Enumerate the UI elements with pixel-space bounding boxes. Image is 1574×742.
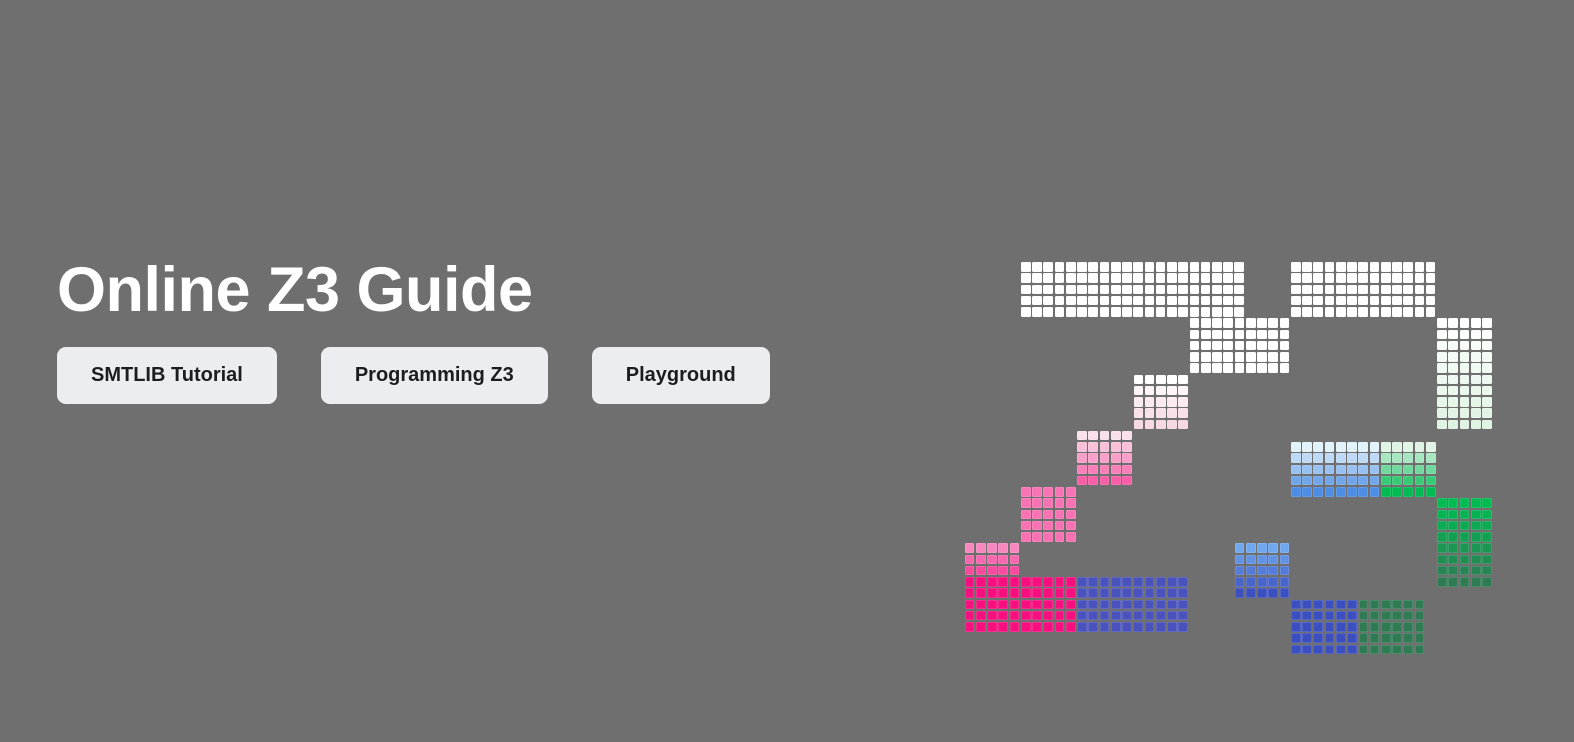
pixel-cell — [1032, 532, 1042, 542]
pixel-cell — [1190, 262, 1200, 272]
pixel-cell — [1145, 386, 1155, 396]
pixel-cell — [1235, 318, 1245, 328]
pixel-cell — [1370, 633, 1380, 643]
pixel-row — [1291, 622, 1358, 632]
pixel-row — [1437, 363, 1493, 373]
pixel-cell — [1471, 498, 1481, 508]
pixel-cell — [1134, 386, 1144, 396]
pixel-cell — [1133, 577, 1143, 587]
pixel-cell — [1347, 262, 1357, 272]
pixel-cell — [1122, 453, 1132, 463]
pixel-cell — [1032, 307, 1042, 317]
pixel-cell — [1111, 285, 1121, 295]
pixel-cell — [1471, 555, 1481, 565]
pixel-row — [1077, 611, 1189, 621]
pixel-cell — [1426, 465, 1436, 475]
pixel-cell — [1032, 498, 1042, 508]
pixel-cell — [1178, 307, 1188, 317]
pixel-cell — [1313, 273, 1323, 283]
pixel-cell — [1471, 577, 1481, 587]
pixel-cell — [1415, 645, 1425, 655]
pixel-cell — [1201, 341, 1211, 351]
pixel-cell — [1122, 588, 1132, 598]
pixel-cell — [1437, 555, 1447, 565]
pixel-row — [1134, 420, 1190, 430]
pixel-cell — [1415, 622, 1425, 632]
pixel-cell — [1145, 296, 1155, 306]
pixel-cell — [1246, 588, 1256, 598]
pixel-cell — [1043, 296, 1053, 306]
pixel-cell — [1055, 622, 1065, 632]
pixel-cell — [1437, 498, 1447, 508]
pixel-cell — [1370, 487, 1380, 497]
pixel-row — [1291, 645, 1358, 655]
pixel-cell — [1347, 465, 1357, 475]
pixel-cell — [1066, 622, 1076, 632]
pixel-cell — [1336, 633, 1346, 643]
pixel-cell — [1392, 487, 1402, 497]
pixel-cell — [1212, 296, 1222, 306]
pixel-cell — [1460, 510, 1470, 520]
programming-z3-button[interactable]: Programming Z3 — [321, 347, 548, 404]
pixel-cell — [1325, 296, 1335, 306]
pixel-cell — [1403, 611, 1413, 621]
pixel-cell — [1100, 622, 1110, 632]
pixel-cell — [1111, 622, 1121, 632]
pixel-row — [1291, 633, 1358, 643]
pixel-cell — [1178, 600, 1188, 610]
pixel-cell — [976, 577, 986, 587]
pixel-cell — [1088, 600, 1098, 610]
pixel-row — [1291, 611, 1358, 621]
pixel-cell — [1448, 521, 1458, 531]
pixel-cell — [1325, 285, 1335, 295]
pixel-cell — [1043, 307, 1053, 317]
pixel-cell — [1482, 318, 1492, 328]
pixel-cell — [1178, 296, 1188, 306]
pixel-cell — [1156, 600, 1166, 610]
pixel-cell — [1257, 577, 1267, 587]
pixel-cell — [1471, 318, 1481, 328]
pixel-row — [965, 577, 1077, 587]
pixel-cell — [987, 622, 997, 632]
pixel-cell — [1291, 453, 1301, 463]
pixel-row — [1437, 498, 1493, 508]
pixel-cell — [1482, 386, 1492, 396]
pixel-cell — [1223, 341, 1233, 351]
pixel-cell — [1010, 600, 1020, 610]
pixel-cell — [1156, 296, 1166, 306]
pixel-cell — [976, 600, 986, 610]
pixel-cell — [1313, 600, 1323, 610]
pixel-row — [1077, 600, 1189, 610]
pixel-row — [1235, 363, 1291, 373]
smtlib-tutorial-button[interactable]: SMTLIB Tutorial — [57, 347, 277, 404]
pixel-cell — [1370, 307, 1380, 317]
pixel-cell — [1010, 566, 1020, 576]
pixel-cell — [1291, 262, 1301, 272]
pixel-cell — [1167, 273, 1177, 283]
pixel-cell — [1223, 330, 1233, 340]
pixel-cell — [1392, 285, 1402, 295]
pixel-cell — [1257, 363, 1267, 373]
pixel-cell — [1010, 611, 1020, 621]
pixel-row — [965, 588, 1077, 598]
pixel-cell — [1145, 307, 1155, 317]
pixel-cell — [1088, 273, 1098, 283]
pixel-cell — [1325, 307, 1335, 317]
pixel-cell — [1043, 285, 1053, 295]
pixel-cell — [1133, 611, 1143, 621]
pixel-cell — [1077, 307, 1087, 317]
pixel-row — [1291, 465, 1381, 475]
pixel-cell — [1156, 397, 1166, 407]
pixel-cell — [1178, 622, 1188, 632]
pixel-cell — [1313, 442, 1323, 452]
pixel-row — [1077, 453, 1133, 463]
pixel-cell — [1482, 510, 1492, 520]
pixel-cell — [1403, 262, 1413, 272]
hero-text-column: Online Z3 Guide SMTLIB Tutorial Programm… — [57, 258, 957, 404]
pixel-cell — [1460, 566, 1470, 576]
pixel-cell — [1460, 397, 1470, 407]
pixel-cell — [1313, 262, 1323, 272]
pixel-cell — [987, 543, 997, 553]
pixel-row — [1077, 431, 1133, 441]
pixel-cell — [1448, 566, 1458, 576]
pixel-cell — [1415, 487, 1425, 497]
pixel-cell — [1021, 611, 1031, 621]
pixel-cell — [1268, 318, 1278, 328]
pixel-row — [965, 543, 1021, 553]
pixel-cell — [1448, 397, 1458, 407]
pixel-cell — [1347, 296, 1357, 306]
pixel-cell — [1167, 397, 1177, 407]
pixel-cell — [1437, 543, 1447, 553]
pixel-cell — [1347, 600, 1357, 610]
pixel-cell — [1201, 330, 1211, 340]
pixel-cell — [1156, 622, 1166, 632]
pixel-cell — [1381, 487, 1391, 497]
pixel-cell — [1291, 611, 1301, 621]
pixel-cell — [1167, 600, 1177, 610]
pixel-cell — [1302, 285, 1312, 295]
pixel-cell — [1178, 588, 1188, 598]
pixel-row — [1134, 375, 1190, 385]
pixel-row — [1077, 577, 1189, 587]
pixel-cell — [1055, 273, 1065, 283]
playground-button[interactable]: Playground — [592, 347, 770, 404]
pixel-cell — [1381, 633, 1391, 643]
pixel-row — [1381, 487, 1437, 497]
pixel-cell — [1201, 296, 1211, 306]
pixel-cell — [987, 611, 997, 621]
pixel-cell — [1381, 465, 1391, 475]
pixel-row — [1021, 510, 1077, 520]
pixel-cell — [1336, 307, 1346, 317]
pixel-cell — [1268, 341, 1278, 351]
pixel-cell — [1235, 330, 1245, 340]
pixel-cell — [1471, 352, 1481, 362]
pixel-cell — [1448, 532, 1458, 542]
pixel-cell — [1347, 645, 1357, 655]
pixel-cell — [1448, 375, 1458, 385]
pixel-cell — [1066, 510, 1076, 520]
pixel-cell — [965, 622, 975, 632]
pixel-cell — [1201, 352, 1211, 362]
pixel-cell — [1471, 397, 1481, 407]
pixel-cell — [1381, 307, 1391, 317]
pixel-cell — [1055, 307, 1065, 317]
pixel-cell — [1403, 453, 1413, 463]
pixel-cell — [1471, 566, 1481, 576]
pixel-cell — [1201, 262, 1211, 272]
pixel-cell — [1313, 285, 1323, 295]
pixel-cell — [1133, 273, 1143, 283]
pixel-cell — [1336, 611, 1346, 621]
pixel-cell — [1178, 420, 1188, 430]
pixel-cell — [1088, 622, 1098, 632]
pixel-cell — [1336, 622, 1346, 632]
pixel-cell — [1347, 285, 1357, 295]
pixel-cell — [1246, 566, 1256, 576]
pixel-cell — [1291, 476, 1301, 486]
pixel-cell — [1111, 262, 1121, 272]
pixel-row — [965, 600, 1077, 610]
pixel-cell — [1167, 386, 1177, 396]
pixel-cell — [1381, 273, 1391, 283]
pixel-row — [1381, 453, 1437, 463]
pixel-cell — [1134, 408, 1144, 418]
pixel-cell — [1246, 352, 1256, 362]
pixel-cell — [1100, 262, 1110, 272]
pixel-cell — [1111, 577, 1121, 587]
pixel-row — [1235, 341, 1291, 351]
pixel-cell — [1133, 622, 1143, 632]
pixel-cell — [1246, 318, 1256, 328]
pixel-cell — [1347, 307, 1357, 317]
pixel-cell — [1471, 521, 1481, 531]
pixel-cell — [1156, 408, 1166, 418]
pixel-cell — [1223, 363, 1233, 373]
pixel-row — [1437, 375, 1493, 385]
pixel-cell — [1381, 453, 1391, 463]
pixel-cell — [1257, 555, 1267, 565]
pixel-cell — [1302, 262, 1312, 272]
pixel-cell — [1482, 577, 1492, 587]
pixel-cell — [1234, 307, 1244, 317]
pixel-cell — [1460, 532, 1470, 542]
pixel-cell — [1246, 577, 1256, 587]
pixel-cell — [1223, 307, 1233, 317]
pixel-cell — [1021, 521, 1031, 531]
pixel-row — [1235, 566, 1291, 576]
pixel-cell — [1291, 633, 1301, 643]
pixel-cell — [1021, 498, 1031, 508]
pixel-cell — [1066, 611, 1076, 621]
pixel-cell — [1482, 352, 1492, 362]
pixel-row — [1437, 386, 1493, 396]
pixel-cell — [1426, 273, 1436, 283]
pixel-cell — [1066, 521, 1076, 531]
pixel-cell — [976, 622, 986, 632]
pixel-cell — [1032, 273, 1042, 283]
pixel-cell — [1347, 633, 1357, 643]
pixel-row — [1359, 622, 1426, 632]
pixel-cell — [1100, 296, 1110, 306]
pixel-cell — [1426, 487, 1436, 497]
pixel-cell — [1347, 611, 1357, 621]
pixel-row — [1235, 555, 1291, 565]
pixel-cell — [1133, 600, 1143, 610]
pixel-row — [1437, 420, 1493, 430]
pixel-cell — [1392, 645, 1402, 655]
pixel-cell — [1437, 375, 1447, 385]
pixel-cell — [1280, 555, 1290, 565]
pixel-cell — [1021, 532, 1031, 542]
pixel-cell — [1100, 273, 1110, 283]
pixel-cell — [1325, 476, 1335, 486]
pixel-cell — [1043, 510, 1053, 520]
pixel-cell — [1437, 510, 1447, 520]
pixel-cell — [1437, 318, 1447, 328]
pixel-cell — [1415, 273, 1425, 283]
pixel-cell — [1291, 645, 1301, 655]
pixel-row — [1021, 521, 1077, 531]
pixel-cell — [1111, 442, 1121, 452]
pixel-cell — [1257, 330, 1267, 340]
pixel-cell — [1021, 487, 1031, 497]
pixel-cell — [1392, 611, 1402, 621]
pixel-cell — [965, 555, 975, 565]
pixel-cell — [1246, 543, 1256, 553]
pixel-cell — [1336, 285, 1346, 295]
pixel-cell — [1460, 521, 1470, 531]
pixel-cell — [1088, 577, 1098, 587]
pixel-cell — [1077, 622, 1087, 632]
pixel-cell — [1021, 296, 1031, 306]
pixel-cell — [1437, 330, 1447, 340]
pixel-cell — [1336, 296, 1346, 306]
pixel-cell — [1178, 386, 1188, 396]
pixel-cell — [1010, 555, 1020, 565]
pixel-cell — [1055, 487, 1065, 497]
pixel-cell — [1325, 622, 1335, 632]
pixel-cell — [1403, 600, 1413, 610]
pixel-cell — [1268, 555, 1278, 565]
pixel-cell — [1032, 296, 1042, 306]
pixel-cell — [1381, 622, 1391, 632]
pixel-cell — [1246, 330, 1256, 340]
pixel-cell — [1235, 577, 1245, 587]
pixel-cell — [1291, 487, 1301, 497]
pixel-cell — [1302, 633, 1312, 643]
pixel-cell — [1032, 611, 1042, 621]
pixel-cell — [1347, 476, 1357, 486]
pixel-cell — [1234, 285, 1244, 295]
pixel-cell — [1145, 408, 1155, 418]
pixel-cell — [1133, 307, 1143, 317]
pixel-cell — [1448, 341, 1458, 351]
pixel-cell — [1448, 420, 1458, 430]
pixel-cell — [1415, 476, 1425, 486]
pixel-cell — [1167, 420, 1177, 430]
pixel-cell — [1358, 296, 1368, 306]
pixel-cell — [1381, 262, 1391, 272]
pixel-cell — [1122, 476, 1132, 486]
pixel-cell — [1088, 285, 1098, 295]
pixel-cell — [1268, 352, 1278, 362]
pixel-row — [1359, 611, 1426, 621]
pixel-cell — [1347, 622, 1357, 632]
pixel-cell — [1077, 431, 1087, 441]
pixel-cell — [1167, 296, 1177, 306]
pixel-cell — [1043, 577, 1053, 587]
pixel-cell — [1190, 352, 1200, 362]
pixel-cell — [1313, 645, 1323, 655]
pixel-cell — [987, 577, 997, 587]
pixel-cell — [1359, 600, 1369, 610]
pixel-row — [1235, 352, 1291, 362]
pixel-cell — [1043, 611, 1053, 621]
pixel-cell — [1460, 318, 1470, 328]
pixel-cell — [1302, 476, 1312, 486]
pixel-cell — [1234, 296, 1244, 306]
pixel-cell — [1088, 453, 1098, 463]
pixel-row — [1291, 442, 1381, 452]
pixel-cell — [1235, 543, 1245, 553]
pixel-cell — [1403, 487, 1413, 497]
pixel-row — [1021, 262, 1246, 272]
pixel-cell — [1280, 330, 1290, 340]
pixel-cell — [976, 543, 986, 553]
pixel-cell — [998, 622, 1008, 632]
pixel-row — [1437, 555, 1493, 565]
pixel-cell — [1437, 352, 1447, 362]
pixel-cell — [1302, 453, 1312, 463]
pixel-cell — [1190, 273, 1200, 283]
pixel-cell — [1122, 273, 1132, 283]
pixel-cell — [1122, 296, 1132, 306]
pixel-cell — [1370, 442, 1380, 452]
pixel-cell — [1336, 262, 1346, 272]
pixel-cell — [1358, 442, 1368, 452]
pixel-cell — [1460, 330, 1470, 340]
pixel-cell — [1471, 510, 1481, 520]
pixel-cell — [1122, 611, 1132, 621]
pixel-row — [1021, 273, 1246, 283]
pixel-cell — [1325, 487, 1335, 497]
pixel-cell — [1133, 285, 1143, 295]
pixel-cell — [1336, 465, 1346, 475]
pixel-cell — [998, 588, 1008, 598]
pixel-cell — [1032, 577, 1042, 587]
pixel-cell — [1088, 431, 1098, 441]
pixel-cell — [1460, 555, 1470, 565]
pixel-cell — [1167, 622, 1177, 632]
pixel-cell — [1190, 363, 1200, 373]
pixel-cell — [965, 566, 975, 576]
pixel-cell — [1403, 465, 1413, 475]
pixel-cell — [1088, 442, 1098, 452]
pixel-cell — [1055, 510, 1065, 520]
pixel-cell — [1055, 285, 1065, 295]
pixel-cell — [1257, 318, 1267, 328]
pixel-cell — [1426, 296, 1436, 306]
pixel-cell — [1032, 622, 1042, 632]
pixel-cell — [1043, 487, 1053, 497]
pixel-cell — [1347, 273, 1357, 283]
